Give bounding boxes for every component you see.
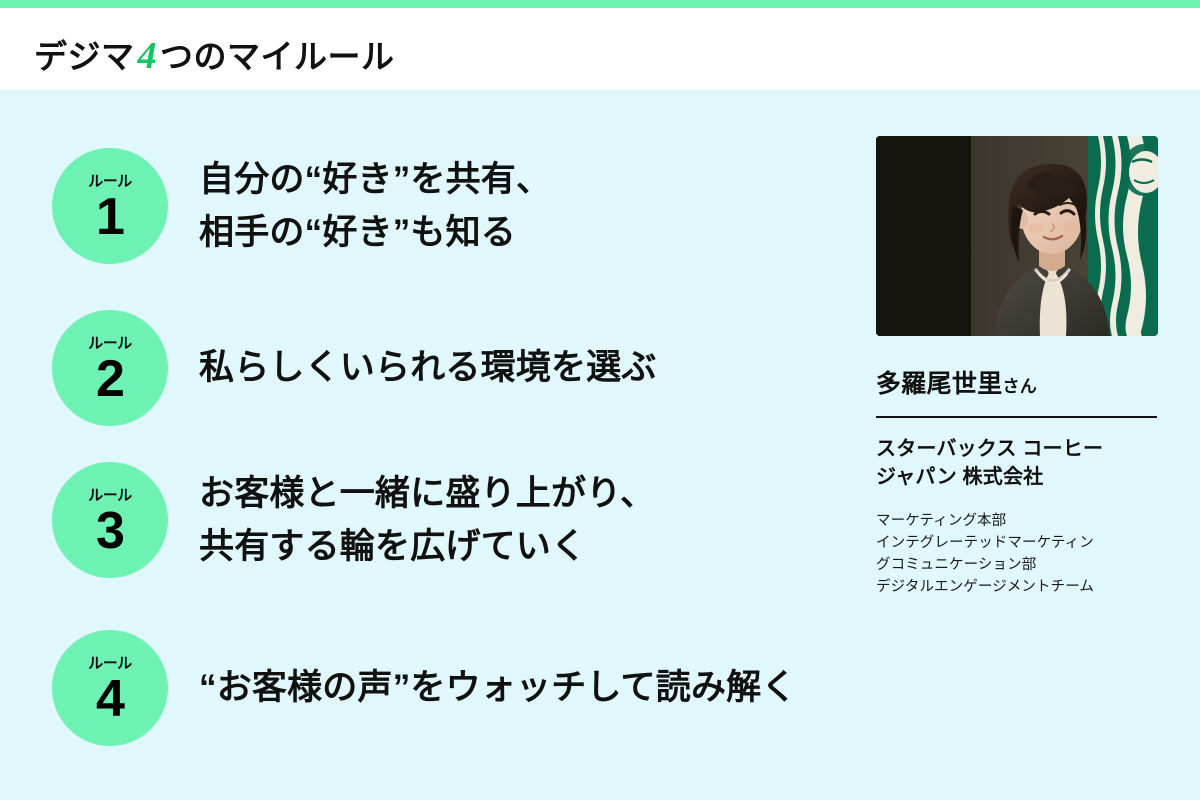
rule-text-line: 私らしくいられる環境を選ぶ [199, 341, 657, 394]
rule-badge-number: 2 [96, 353, 124, 405]
rule-text-line: 共有する輪を広げていく [199, 520, 655, 573]
rule-badge-label: ルール [88, 174, 132, 189]
rule-badge: ルール 4 [52, 630, 168, 746]
page-title-suffix: つのマイルール [160, 38, 395, 75]
rule-item: ルール 3 お客様と一緒に盛り上がり、 共有する輪を広げていく [0, 462, 860, 578]
rule-item: ルール 1 自分の“好き”を共有、 相手の“好き”も知る [0, 148, 860, 264]
rule-text-line: 相手の“好き”も知る [199, 206, 551, 259]
page-title-prefix: デジマ [34, 38, 135, 75]
profile-company-line: ジャパン 株式会社 [876, 463, 1164, 491]
profile-panel: 多羅尾世里さん スターバックス コーヒー ジャパン 株式会社 マーケティング本部… [876, 136, 1164, 598]
rule-badge-number: 3 [96, 505, 124, 557]
rule-badge-number: 1 [96, 191, 124, 243]
rule-badge-label: ルール [88, 656, 132, 671]
page-title-number: 4 [135, 35, 161, 77]
profile-name-honorific: さん [1003, 377, 1038, 396]
rule-text: 私らしくいられる環境を選ぶ [199, 341, 657, 394]
profile-divider [876, 416, 1157, 418]
header-bar: デジマ4つのマイルール [0, 8, 1200, 90]
rule-text: 自分の“好き”を共有、 相手の“好き”も知る [199, 153, 551, 259]
portrait-photo [876, 136, 1158, 336]
rule-badge: ルール 2 [52, 310, 168, 426]
profile-department-line: デジタルエンゲージメントチーム [876, 576, 1164, 598]
rule-text: お客様と一緒に盛り上がり、 共有する輪を広げていく [199, 467, 655, 573]
profile-name: 多羅尾世里さん [876, 364, 1164, 400]
profile-name-text: 多羅尾世里 [876, 370, 1003, 398]
rule-badge: ルール 1 [52, 148, 168, 264]
top-accent-bar [0, 0, 1200, 8]
rule-badge-label: ルール [88, 488, 132, 503]
profile-company-line: スターバックス コーヒー [876, 435, 1164, 463]
profile-department: マーケティング本部 インテグレーテッドマーケティン グコミュニケーション部 デジ… [876, 510, 1164, 598]
rule-badge: ルール 3 [52, 462, 168, 578]
page-title: デジマ4つのマイルール [34, 30, 395, 78]
rule-text: “お客様の声”をウォッチして読み解く [199, 661, 797, 714]
rule-item: ルール 4 “お客様の声”をウォッチして読み解く [0, 630, 860, 746]
rules-list: ルール 1 自分の“好き”を共有、 相手の“好き”も知る ルール 2 私らしくい… [0, 90, 860, 800]
profile-department-line: インテグレーテッドマーケティン [876, 532, 1164, 554]
profile-department-line: グコミュニケーション部 [876, 554, 1164, 576]
rule-item: ルール 2 私らしくいられる環境を選ぶ [0, 310, 860, 426]
profile-department-line: マーケティング本部 [876, 510, 1164, 532]
rule-text-line: “お客様の声”をウォッチして読み解く [199, 661, 797, 714]
rule-text-line: お客様と一緒に盛り上がり、 [199, 467, 655, 520]
rule-text-line: 自分の“好き”を共有、 [199, 153, 551, 206]
profile-company: スターバックス コーヒー ジャパン 株式会社 [876, 435, 1164, 492]
rule-badge-label: ルール [88, 336, 132, 351]
slide-root: デジマ4つのマイルール ルール 1 自分の“好き”を共有、 相手の“好き”も知る… [0, 0, 1200, 800]
rule-badge-number: 4 [96, 673, 124, 725]
